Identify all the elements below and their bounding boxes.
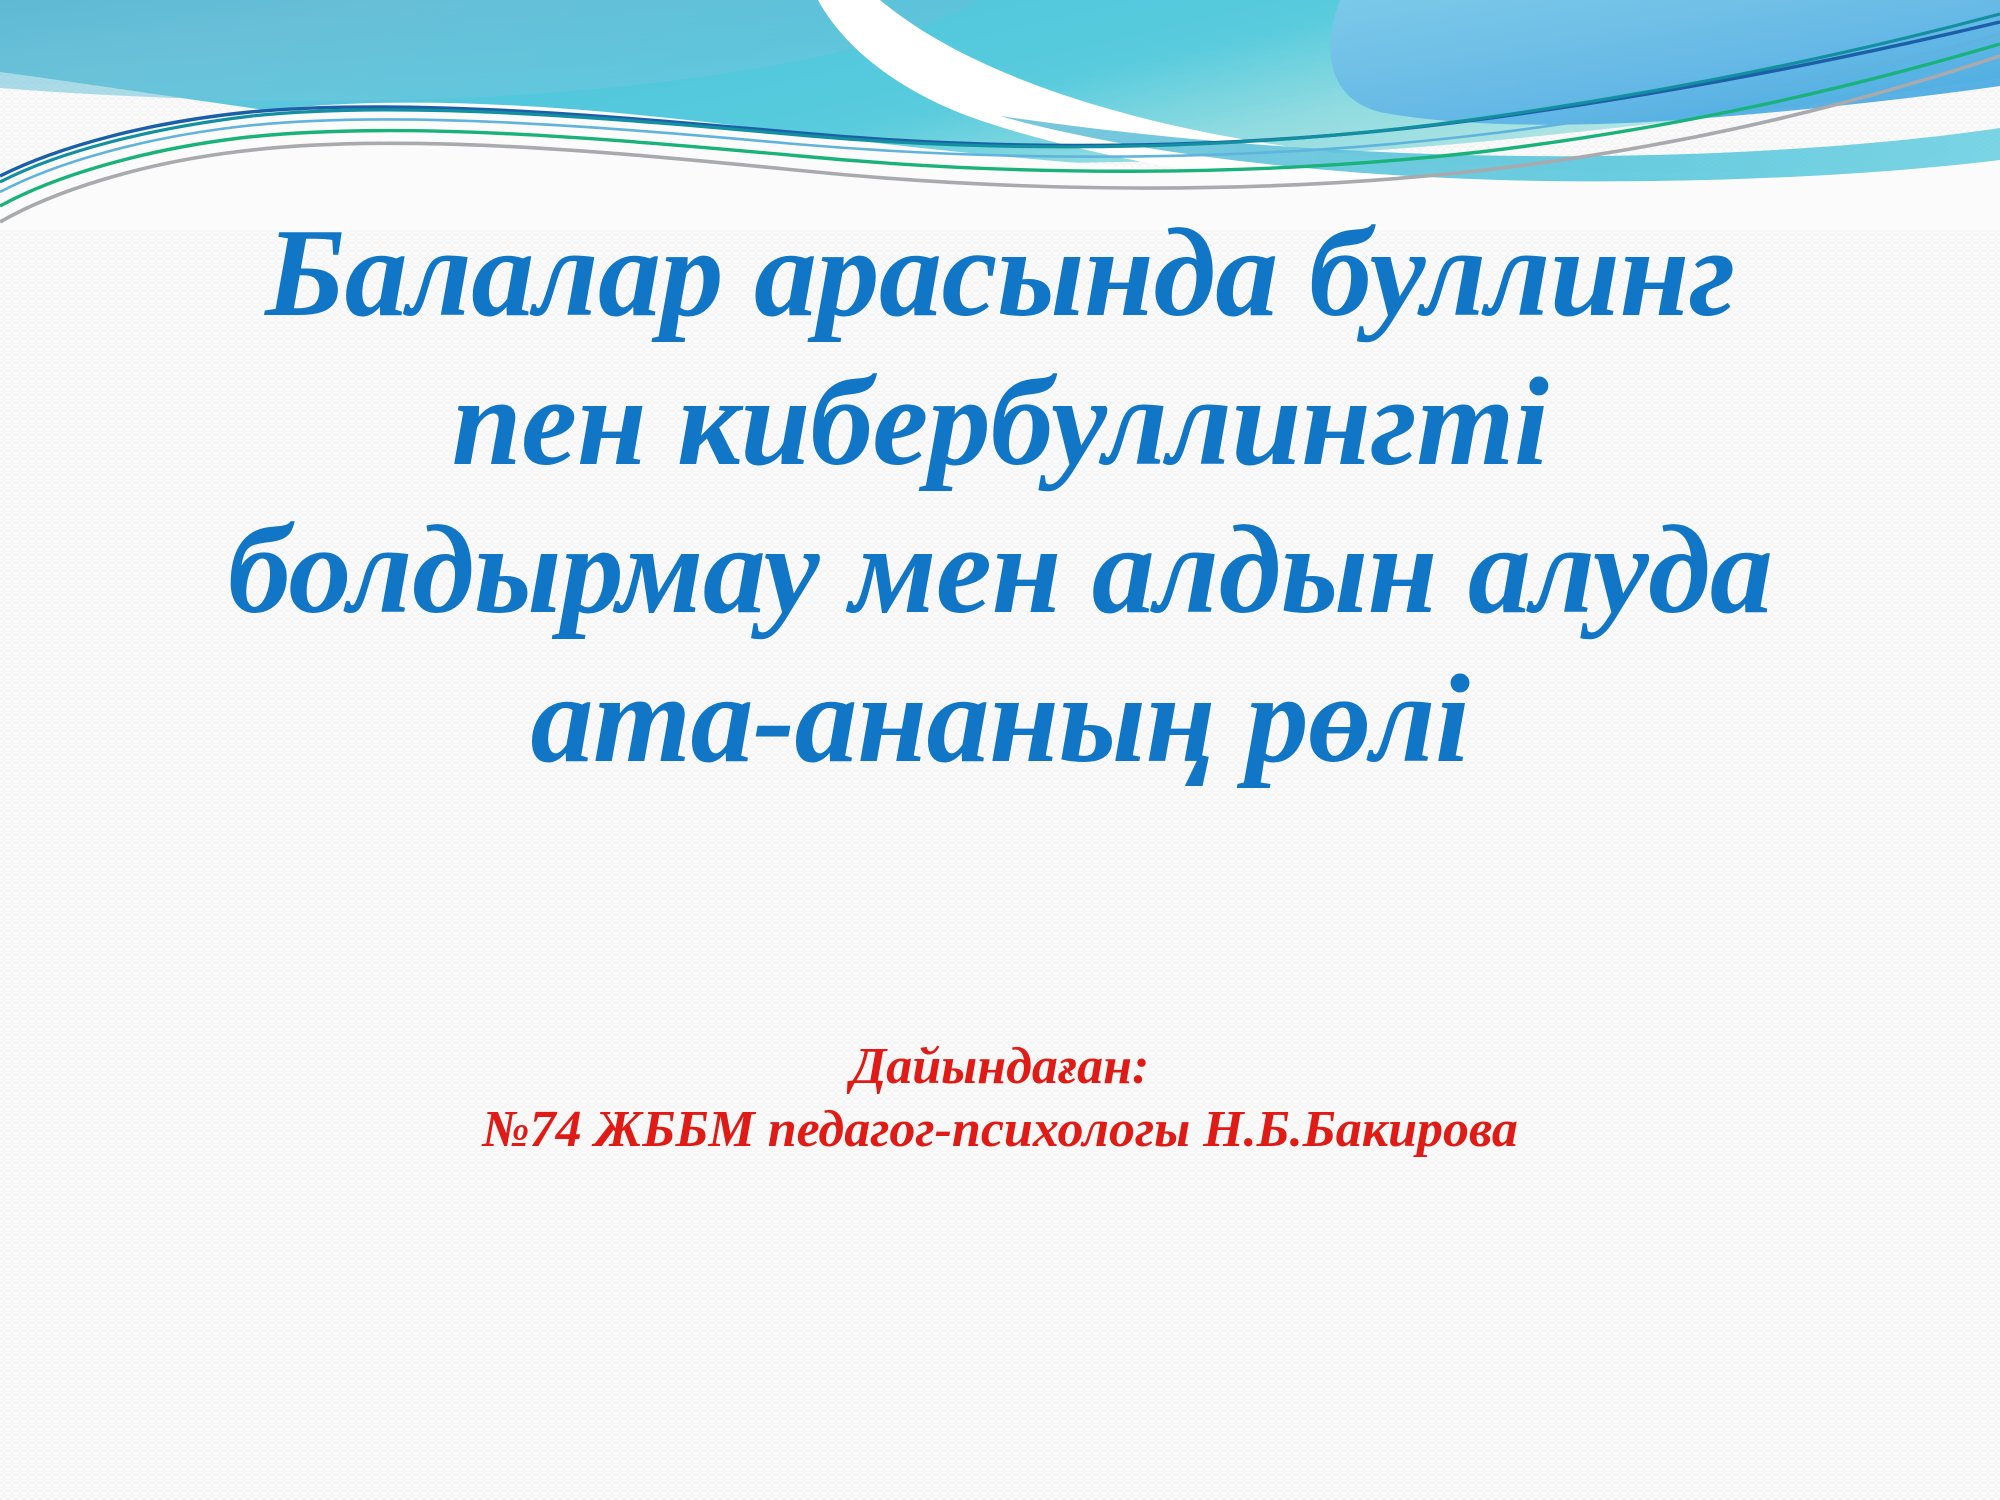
title-line-3: болдырмау мен алдын алуда	[100, 497, 1900, 646]
slide-canvas: Балалар арасында буллинг пен кибербуллин…	[0, 0, 2000, 1500]
wave-band-deep-blue	[1330, 0, 2000, 125]
wave-banner-svg	[0, 0, 2000, 230]
slide-title: Балалар арасында буллинг пен кибербуллин…	[100, 200, 1900, 795]
slide-subtitle-author: Дайындаған: №74 ЖББМ педагог-психологы Н…	[100, 1035, 1900, 1162]
subtitle-line-prepared-by: Дайындаған:	[100, 1035, 1900, 1098]
title-line-2: пен кибербуллингті	[100, 349, 1900, 498]
title-line-4: ата-ананың рөлі	[100, 646, 1900, 795]
title-line-1: Балалар арасында буллинг	[100, 200, 1900, 349]
wave-banner-decoration	[0, 0, 2000, 230]
subtitle-line-author: №74 ЖББМ педагог-психологы Н.Б.Бакирова	[100, 1098, 1900, 1161]
